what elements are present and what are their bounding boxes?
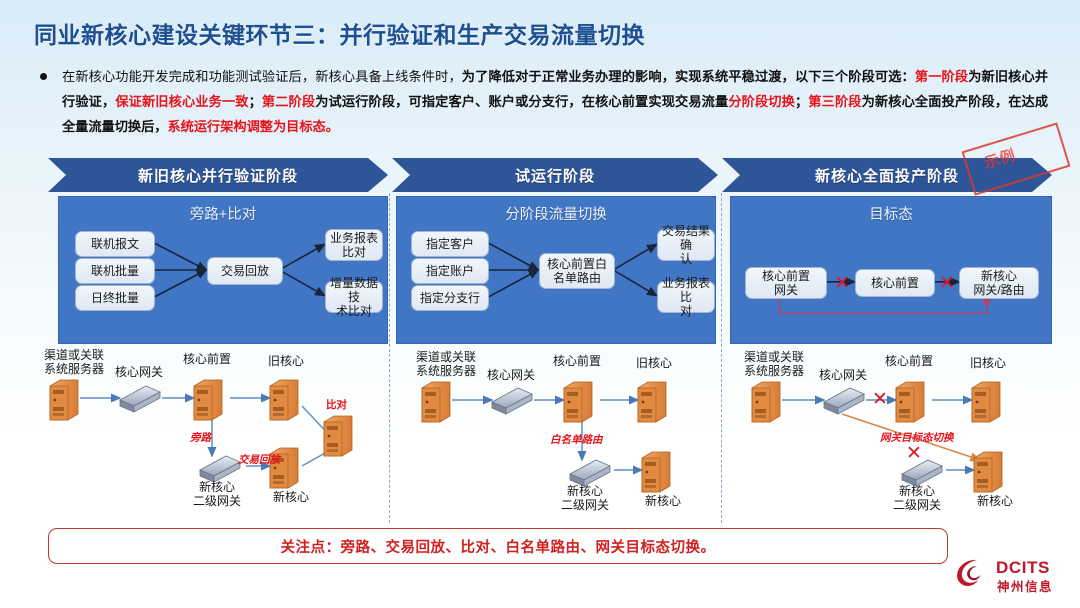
- node-output-2[interactable]: 增量数据技 术比对: [325, 281, 383, 313]
- node-target-3[interactable]: 新核心 网关/路由: [959, 267, 1039, 299]
- label-old-core: 旧核心: [258, 354, 314, 368]
- node-output-1[interactable]: 业务报表 比对: [325, 229, 383, 261]
- logo-text-en: DCITS: [996, 558, 1050, 578]
- company-logo: DCITS 神州信息: [952, 556, 1072, 600]
- node-input-2[interactable]: 指定账户: [411, 258, 489, 284]
- phase1-flow-panel: 旁路+比对 联机报文 联机批量 日终批量 交易回放 业务报表 比对 增量数据技 …: [58, 196, 388, 344]
- node-input-3[interactable]: 日终批量: [75, 285, 155, 311]
- node-target-1[interactable]: 核心前置 网关: [745, 267, 827, 299]
- intro-seg-7: ；: [249, 94, 262, 109]
- phase-banner-3[interactable]: 新核心全面投产阶段: [722, 158, 1052, 192]
- node-target-2[interactable]: 核心前置: [855, 269, 935, 297]
- node-output-2[interactable]: 业务报表比 对: [657, 281, 715, 313]
- intro-seg-6: 保证新旧核心业务一致: [115, 94, 248, 109]
- annotation-bypass: 旁路: [190, 430, 211, 445]
- intro-seg-9: 为试运行阶段，可指定客户、账户或分支行，在核心前置实现交易流量: [315, 94, 728, 109]
- phase2-flow-panel: 分阶段流量切换 指定客户 指定账户 指定分支行 核心前置白 名单路由 交易结果确…: [396, 196, 716, 344]
- label-frontend: 核心前置: [544, 354, 610, 368]
- dcits-swoosh-icon: [952, 556, 996, 592]
- label-new-core: 新核心: [634, 494, 692, 508]
- intro-seg-4: 第一阶段: [915, 69, 968, 84]
- column-divider: [389, 193, 390, 523]
- label-new-gateway: 新核心 二级网关: [542, 484, 628, 512]
- intro-seg-2: 为了降低对于正常业务办理的影响，实现系统平稳过渡: [462, 69, 782, 84]
- label-new-core: 新核心: [966, 494, 1024, 508]
- phase3-server-diagram: 渠道或关联 系统服务器 核心网关 核心前置 旧核心 新核心 二级网关 新核心 网…: [724, 348, 1054, 526]
- logo-text-cn: 神州信息: [997, 576, 1053, 595]
- label-gateway: 核心网关: [478, 368, 544, 382]
- node-center[interactable]: 核心前置白 名单路由: [539, 253, 615, 289]
- label-source: 渠道或关联 系统服务器: [404, 350, 488, 378]
- intro-paragraph: 在新核心功能开发完成和功能测试验证后，新核心具备上线条件时，为了降低对于正常业务…: [62, 64, 1048, 139]
- phase-banner-2[interactable]: 试运行阶段: [392, 158, 718, 192]
- label-gateway: 核心网关: [810, 368, 876, 382]
- label-source: 渠道或关联 系统服务器: [32, 348, 116, 376]
- phase1-server-diagram: 渠道或关联 系统服务器 核心网关 核心前置 旧核心 新核心 二级网关 新核心 比…: [22, 348, 388, 526]
- phase-banner-1[interactable]: 新旧核心并行验证阶段: [48, 158, 388, 192]
- label-frontend: 核心前置: [876, 354, 942, 368]
- node-output-1[interactable]: 交易结果确 认: [657, 229, 715, 261]
- x-mark-icon: ✕: [872, 390, 888, 409]
- label-old-core: 旧核心: [960, 356, 1016, 370]
- label-frontend: 核心前置: [174, 352, 240, 366]
- node-input-1[interactable]: 联机报文: [75, 231, 155, 257]
- key-points-note: 关注点：旁路、交易回放、比对、白名单路由、网关目标态切换。: [48, 528, 948, 564]
- annotation-replay: 交易回放: [238, 452, 280, 467]
- intro-paragraph-block: 在新核心功能开发完成和功能测试验证后，新核心具备上线条件时，为了降低对于正常业务…: [34, 64, 1048, 139]
- x-mark-icon: ✕: [906, 444, 922, 463]
- phase2-server-diagram: 渠道或关联 系统服务器 核心网关 核心前置 旧核心 新核心 二级网关 新核心 白…: [392, 348, 720, 526]
- page-title: 同业新核心建设关键环节三：并行验证和生产交易流量切换: [34, 16, 645, 50]
- phase3-flow-panel: 目标态 核心前置 网关 核心前置 新核心 网关/路由 ✕ ✕: [730, 196, 1052, 344]
- label-compare: 比对: [326, 398, 347, 412]
- intro-seg-12: 第三阶段: [808, 94, 861, 109]
- label-new-gateway: 新核心 二级网关: [174, 480, 260, 508]
- label-new-core: 新核心: [262, 490, 320, 504]
- intro-seg-1: 在新核心功能开发完成和功能测试验证后，新核心具备上线条件时，: [62, 69, 462, 84]
- annotation-whitelist-route: 白名单路由: [550, 432, 603, 447]
- node-input-2[interactable]: 联机批量: [75, 258, 155, 284]
- x-mark-icon: ✕: [939, 274, 955, 293]
- node-input-1[interactable]: 指定客户: [411, 231, 489, 257]
- node-input-3[interactable]: 指定分支行: [411, 285, 489, 311]
- label-old-core: 旧核心: [626, 356, 682, 370]
- intro-seg-3: ，以下三个阶段可选：: [782, 69, 915, 84]
- intro-seg-11: ；: [795, 94, 808, 109]
- label-source: 渠道或关联 系统服务器: [732, 350, 816, 378]
- label-gateway: 核心网关: [106, 365, 172, 379]
- label-new-gateway: 新核心 二级网关: [874, 484, 960, 512]
- node-center[interactable]: 交易回放: [207, 257, 283, 285]
- intro-seg-14: 系统运行架构调整为目标态。: [168, 119, 339, 134]
- intro-seg-10: 分阶段切换: [728, 94, 795, 109]
- x-mark-icon: ✕: [834, 274, 850, 293]
- intro-seg-8: 第二阶段: [262, 94, 315, 109]
- column-divider: [721, 193, 722, 523]
- bullet-dot-icon: [40, 73, 47, 80]
